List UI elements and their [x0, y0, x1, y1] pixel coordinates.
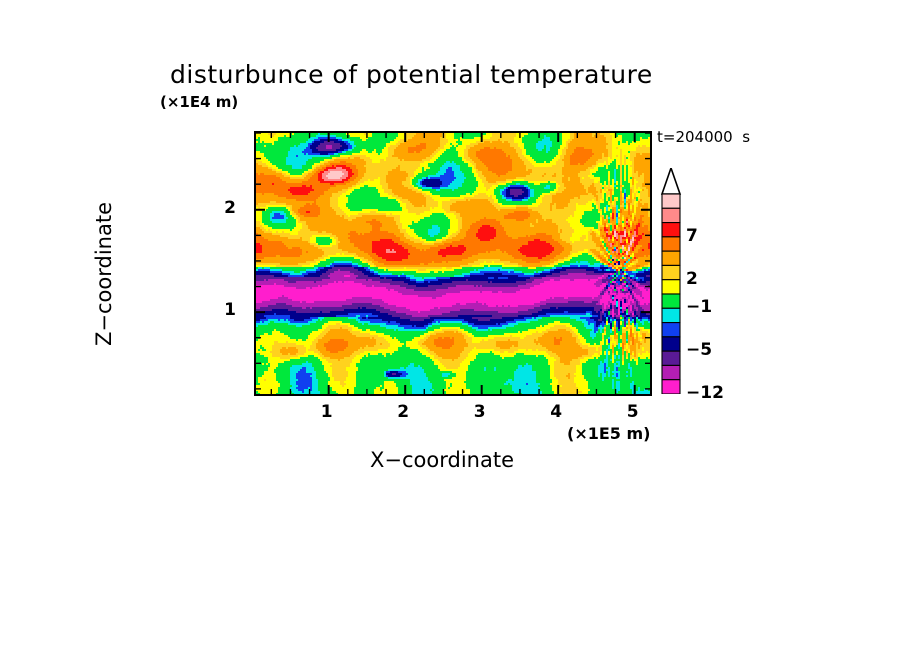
colorbar-tick-label: 2 — [686, 269, 698, 289]
x-tick-label: 1 — [307, 402, 347, 422]
colorbar-bands — [659, 168, 683, 394]
x-tick-label: 3 — [460, 402, 500, 422]
x-tick-label: 4 — [536, 402, 576, 422]
x-tick-label: 2 — [383, 402, 423, 422]
x-unit-label: (×1E5 m) — [567, 424, 650, 443]
colorbar — [659, 168, 683, 394]
colorbar-tick-label: −12 — [686, 383, 724, 403]
x-axis-title: X−coordinate — [370, 448, 514, 472]
contour-plot-area — [254, 131, 652, 396]
y-tick-label: 1 — [218, 300, 242, 320]
figure-canvas: disturbunce of potential temperature (×1… — [0, 0, 904, 654]
colorbar-tick-label: −5 — [686, 340, 712, 360]
colorbar-tick-label: 7 — [686, 226, 698, 246]
time-annotation: t=204000 s — [657, 128, 750, 146]
y-axis-title: Z−coordinate — [92, 144, 116, 404]
y-tick-label: 2 — [218, 198, 242, 218]
colorbar-tick-label: −1 — [686, 297, 712, 317]
contour-field — [256, 133, 650, 394]
x-tick-label: 5 — [613, 402, 653, 422]
z-unit-label: (×1E4 m) — [160, 93, 238, 111]
page-title: disturbunce of potential temperature — [170, 60, 653, 89]
